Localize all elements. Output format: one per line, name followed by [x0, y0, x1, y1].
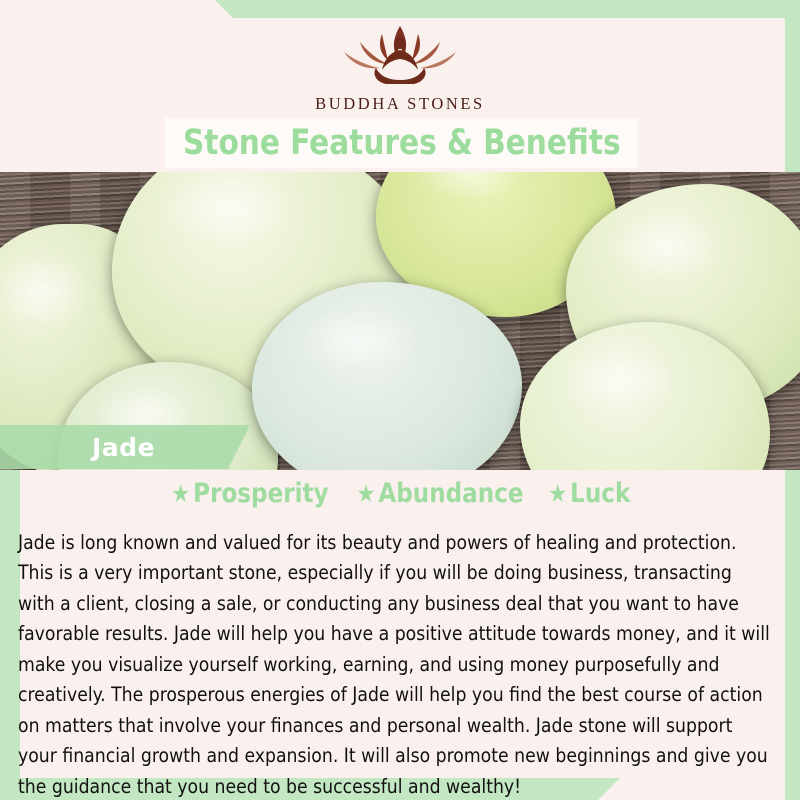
benefit-label: Abundance [378, 478, 523, 509]
stone-description: Jade is long known and valued for its be… [18, 528, 771, 800]
benefit-item-prosperity: ★Prosperity [172, 478, 329, 509]
page-title: Stone Features & Benefits [183, 123, 621, 163]
benefit-item-abundance: ★Abundance [356, 478, 523, 509]
brand-logo-block: BUDDHA STONES [0, 20, 800, 114]
brand-wordmark: BUDDHA STONES [0, 94, 800, 114]
stone-name-label: Jade [92, 433, 155, 462]
lotus-meditation-icon [334, 20, 466, 88]
benefit-label: Luck [570, 478, 630, 509]
benefits-row: ★Prosperity ★Abundance ★Luck [0, 478, 800, 509]
star-icon: ★ [172, 479, 191, 508]
title-band: Stone Features & Benefits [165, 118, 638, 168]
star-icon: ★ [356, 479, 375, 508]
decor-top-right-band [215, 0, 800, 18]
benefit-label: Prosperity [194, 478, 329, 509]
stone-benefits-poster: BUDDHA STONES Stone Features & Benefits … [0, 0, 800, 800]
stone-name-banner: Jade [0, 425, 250, 469]
benefit-item-luck: ★Luck [548, 478, 630, 509]
star-icon: ★ [548, 479, 567, 508]
